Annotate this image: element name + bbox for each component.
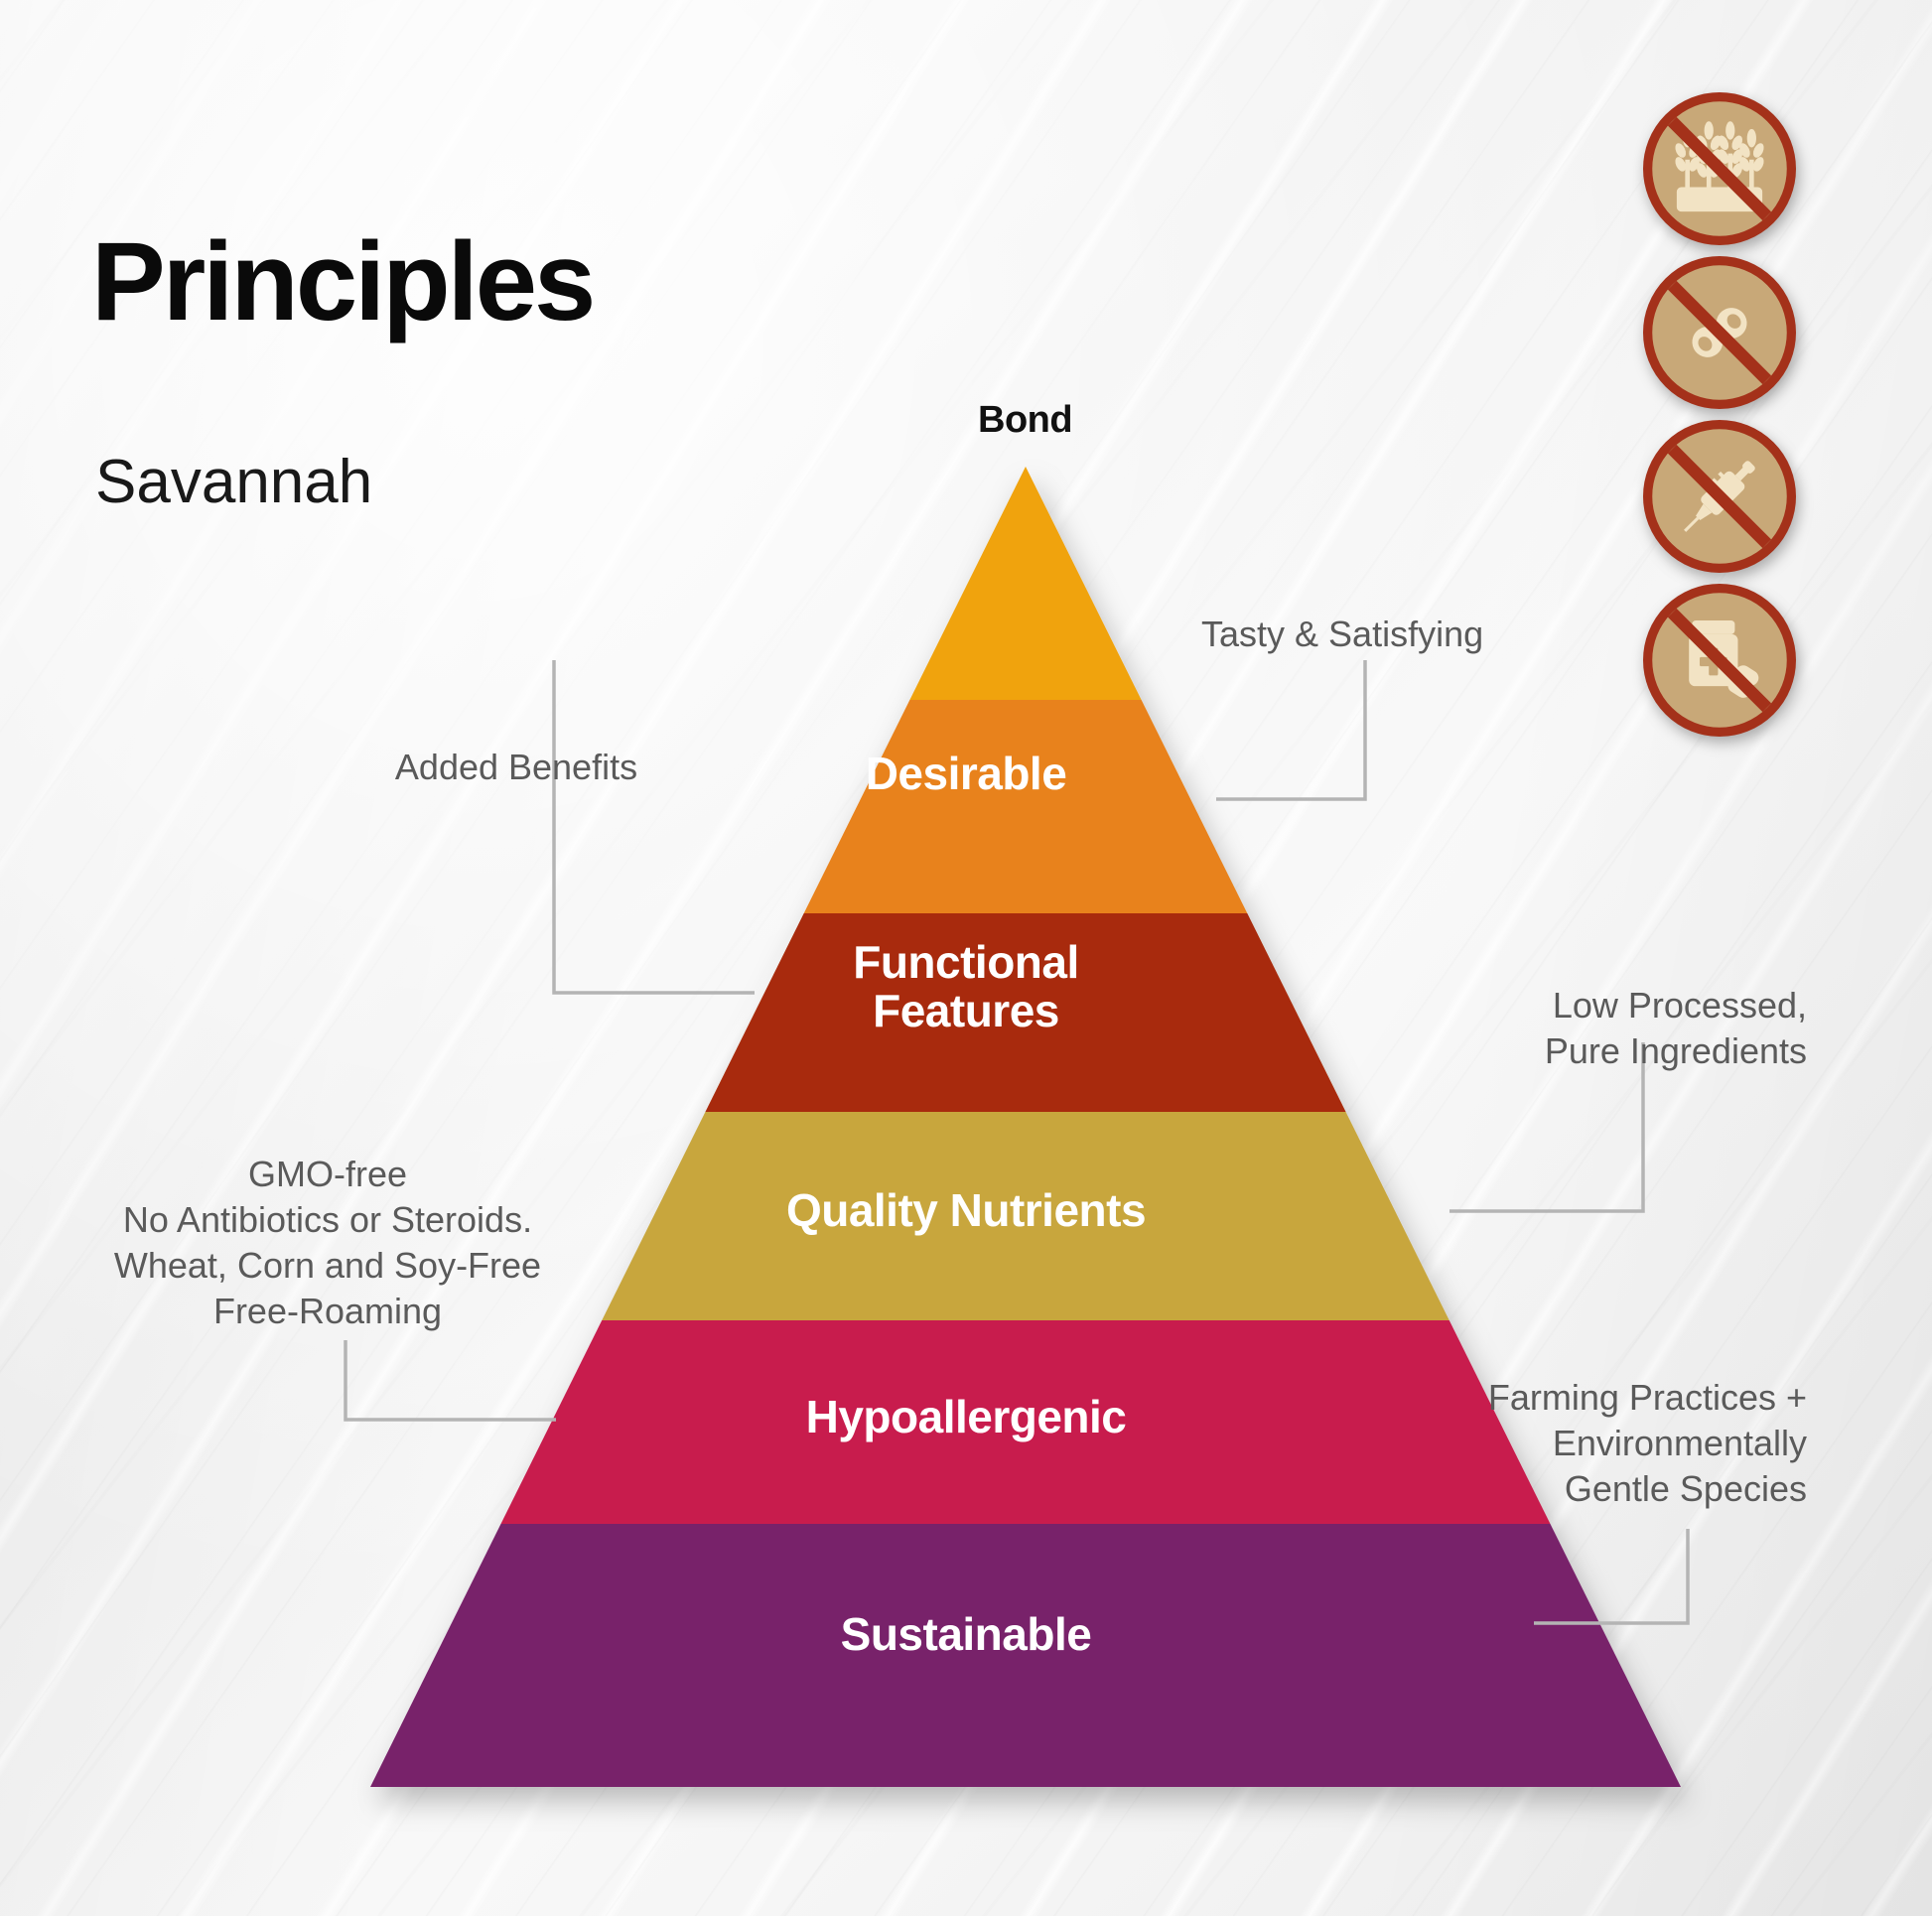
pyramid-level-5 [298, 1524, 1688, 1802]
annotation-low-processed: Low Processed,Pure Ingredients [1430, 983, 1807, 1074]
annotation-tasty-satisfying: Tasty & Satisfying [1201, 612, 1559, 657]
leader-line-gmo [345, 1340, 556, 1420]
leader-line-tasty [1216, 660, 1365, 799]
no-hormones-badge[interactable] [1643, 420, 1796, 573]
no-wheat-badge[interactable] [1643, 92, 1796, 245]
no-grain-icon [1643, 92, 1796, 245]
no-soy-icon [1643, 256, 1796, 409]
leader-line-added-benefits [554, 660, 755, 993]
annotation-farming-practices: Farming Practices +EnvironmentallyGentle… [1410, 1375, 1807, 1512]
annotation-gmo-free: GMO-freeNo Antibiotics or Steroids.Wheat… [60, 1152, 596, 1334]
pyramid-level-1 [298, 700, 1688, 913]
infographic-canvas: Principles Savannah Bond [0, 0, 1932, 1916]
no-soy-badge[interactable] [1643, 256, 1796, 409]
no-antibiotics-badge[interactable] [1643, 584, 1796, 737]
no-syringe-icon [1643, 420, 1796, 573]
annotation-added-benefits: Added Benefits [338, 745, 695, 790]
no-medication-icon [1643, 584, 1796, 737]
pyramid-level-0 [298, 452, 1688, 700]
